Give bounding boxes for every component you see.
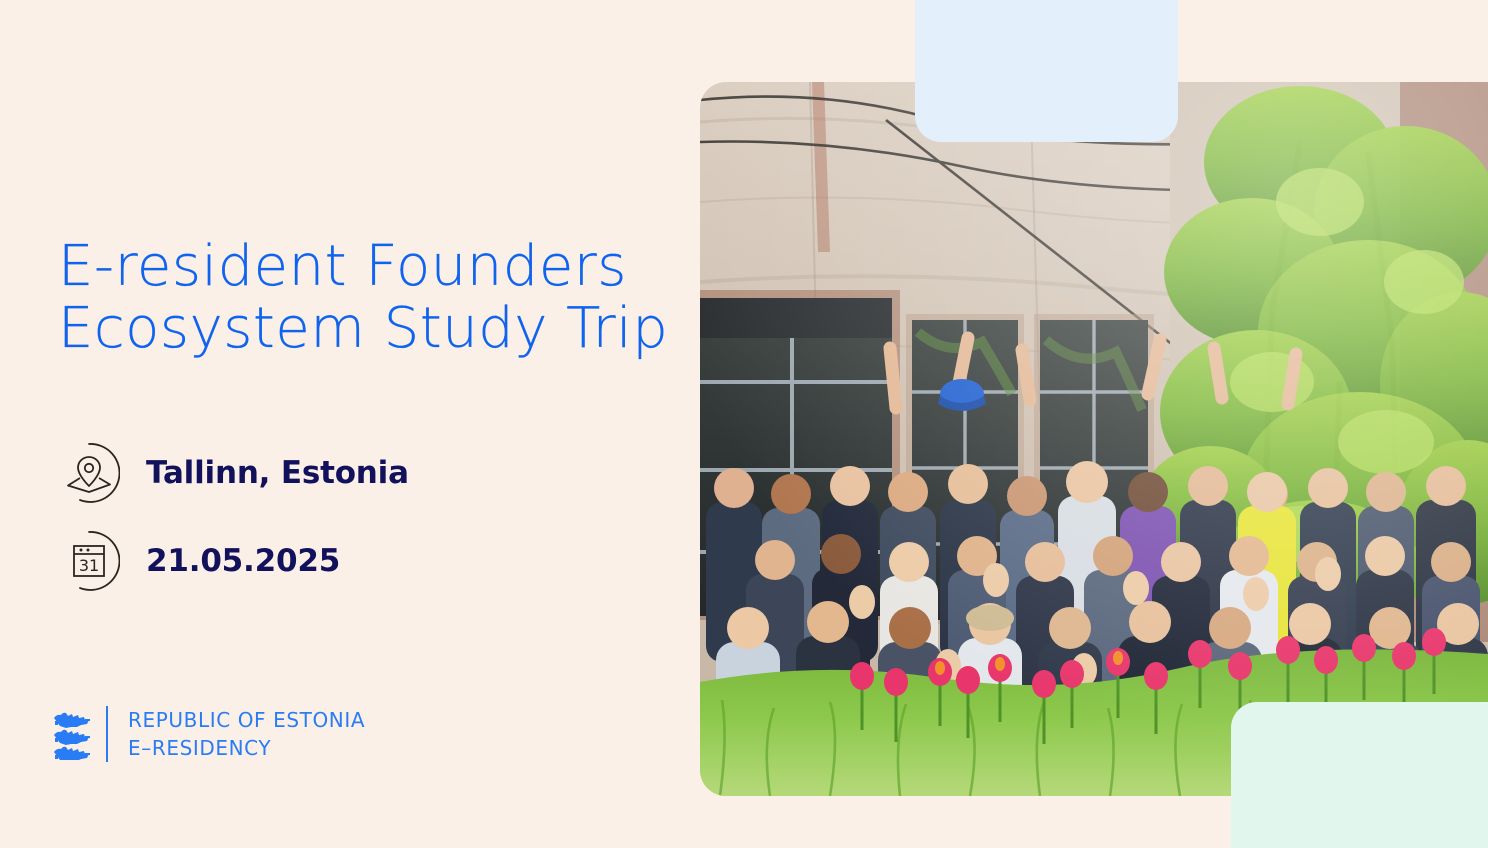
event-date-row: 31 21.05.2025 (58, 530, 340, 592)
calendar-day-number: 31 (79, 556, 99, 575)
event-group-photo (700, 82, 1488, 796)
calendar-icon: 31 (58, 530, 120, 592)
left-content-column: E-resident Founders Ecosystem Study Trip… (0, 0, 700, 848)
republic-of-estonia-logo: REPUBLIC OF ESTONIA E–RESIDENCY (52, 706, 365, 762)
slide-canvas: E-resident Founders Ecosystem Study Trip… (0, 0, 1488, 848)
decor-shape-bottom-mint (1231, 702, 1488, 848)
page-title: E-resident Founders Ecosystem Study Trip (58, 236, 698, 360)
event-location-text: Tallinn, Estonia (146, 455, 409, 491)
logo-line-republic: REPUBLIC OF ESTONIA (128, 706, 365, 734)
map-pin-icon (58, 442, 120, 504)
decor-shape-top-blue (915, 0, 1178, 142)
event-date-text: 21.05.2025 (146, 543, 340, 579)
logo-divider (106, 706, 108, 762)
logo-line-eresidency: E–RESIDENCY (128, 734, 365, 762)
event-location-row: Tallinn, Estonia (58, 442, 409, 504)
photo-illustration (700, 82, 1488, 796)
estonian-coat-of-arms-icon (52, 708, 92, 760)
logo-text-block: REPUBLIC OF ESTONIA E–RESIDENCY (128, 706, 365, 762)
